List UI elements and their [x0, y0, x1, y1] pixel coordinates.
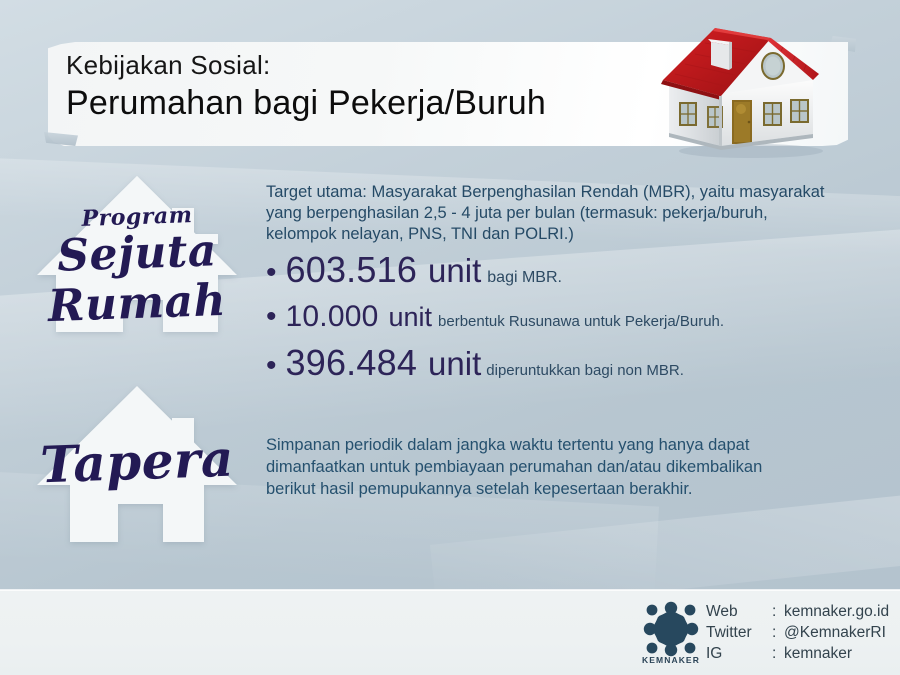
bullet-description: bagi MBR.	[487, 268, 562, 288]
list-item: • 10.000 unit berbentuk Rusunawa untuk P…	[266, 295, 876, 339]
title-line-subject: Kebijakan Sosial:	[66, 48, 686, 82]
contact-value[interactable]: kemnaker.go.id	[784, 601, 889, 622]
bullet-description: berbentuk Rusunawa untuk Pekerja/Buruh.	[438, 312, 724, 332]
contact-value[interactable]: kemnaker	[784, 643, 852, 664]
contact-separator: :	[772, 643, 784, 664]
contact-row-web: Web : kemnaker.go.id	[706, 601, 889, 622]
bullet-unit: unit	[428, 342, 481, 386]
page-title: Kebijakan Sosial: Perumahan bagi Pekerja…	[66, 48, 686, 125]
title-line-main: Perumahan bagi Pekerja/Buruh	[66, 81, 686, 125]
bullet-unit: unit	[428, 249, 481, 293]
contact-value[interactable]: @KemnakerRI	[784, 622, 886, 643]
program-tapera-block: Tapera	[22, 382, 252, 567]
program-label-line3: Rumah	[21, 274, 253, 333]
list-item: • 396.484 unit diperuntukkan bagi non MB…	[266, 341, 876, 386]
sejuta-bullet-list: • 603.516 unit bagi MBR. • 10.000 unit b…	[266, 248, 876, 388]
contact-key: Twitter	[706, 622, 772, 643]
infographic-poster: Kebijakan Sosial: Perumahan bagi Pekerja…	[0, 0, 900, 675]
contact-separator: :	[772, 601, 784, 622]
bullet-dot-icon: •	[266, 351, 277, 381]
bullet-number: 603.516	[286, 248, 418, 292]
contact-key: IG	[706, 643, 772, 664]
list-item: • 603.516 unit bagi MBR.	[266, 248, 876, 293]
bullet-description: diperuntukkan bagi non MBR.	[486, 361, 684, 381]
logo-wordmark: KEMNAKER	[634, 655, 708, 665]
bullet-dot-icon: •	[266, 302, 277, 332]
sejuta-intro-text: Target utama: Masyarakat Berpenghasilan …	[266, 182, 826, 245]
bullet-number: 10.000	[286, 295, 379, 339]
tapera-label: Tapera	[21, 428, 253, 495]
contact-row-instagram: IG : kemnaker	[706, 643, 889, 664]
bullet-unit: unit	[388, 295, 432, 339]
bullet-dot-icon: •	[266, 258, 277, 288]
tapera-description-text: Simpanan periodik dalam jangka waktu ter…	[266, 434, 811, 500]
house-3d-illustration	[655, 18, 845, 166]
bullet-number: 396.484	[286, 341, 418, 385]
contact-separator: :	[772, 622, 784, 643]
program-sejuta-rumah-block: Program Sejuta Rumah	[22, 172, 252, 372]
footer-divider	[0, 589, 900, 591]
contact-key: Web	[706, 601, 772, 622]
contact-row-twitter: Twitter : @KemnakerRI	[706, 622, 889, 643]
footer-contact-list: Web : kemnaker.go.id Twitter : @Kemnaker…	[706, 601, 889, 664]
